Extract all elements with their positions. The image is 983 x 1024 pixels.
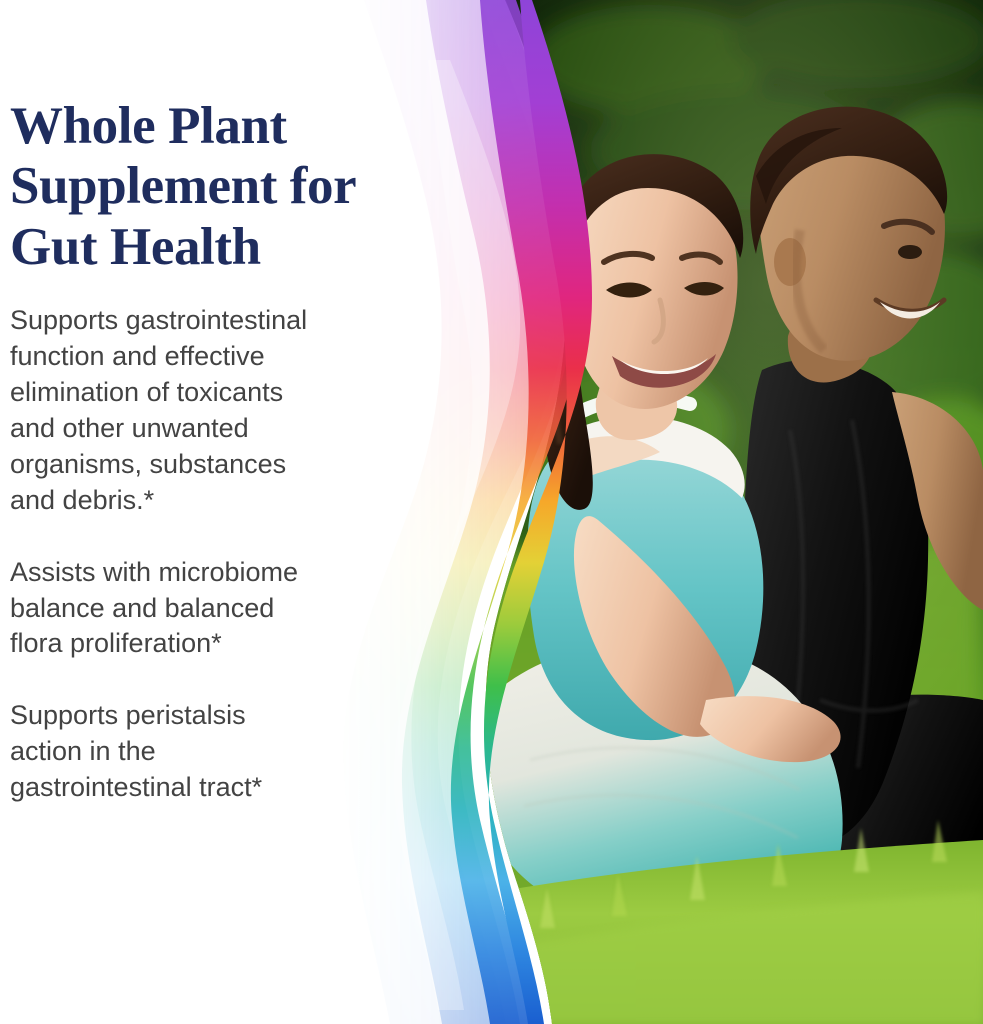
benefit-line: and other unwanted: [10, 411, 440, 447]
benefit-line: action in the: [10, 734, 440, 770]
benefit-microbiome-balance: Assists with microbiome balance and bala…: [10, 555, 440, 663]
benefit-line: elimination of toxicants: [10, 375, 440, 411]
benefit-line: function and effective: [10, 339, 440, 375]
benefit-line: gastrointestinal tract*: [10, 770, 440, 806]
benefit-line: organisms, substances: [10, 447, 440, 483]
copy-panel: Whole Plant Supplement for Gut Health Su…: [0, 0, 430, 1024]
benefit-gi-function: Supports gastrointestinal function and e…: [10, 303, 440, 518]
headline-line-3: Gut Health: [10, 217, 430, 277]
benefit-line: flora proliferation*: [10, 626, 440, 662]
headline-line-2: Supplement for: [10, 156, 430, 216]
marketing-banner: Whole Plant Supplement for Gut Health Su…: [0, 0, 983, 1024]
benefit-line: Supports gastrointestinal: [10, 303, 440, 339]
benefit-line: balance and balanced: [10, 591, 440, 627]
headline-line-1: Whole Plant: [10, 96, 430, 156]
benefit-line: Supports peristalsis: [10, 698, 440, 734]
benefit-peristalsis: Supports peristalsis action in the gastr…: [10, 698, 440, 806]
page-title: Whole Plant Supplement for Gut Health: [10, 96, 430, 277]
benefit-line: Assists with microbiome: [10, 555, 440, 591]
benefit-line: and debris.*: [10, 483, 440, 519]
